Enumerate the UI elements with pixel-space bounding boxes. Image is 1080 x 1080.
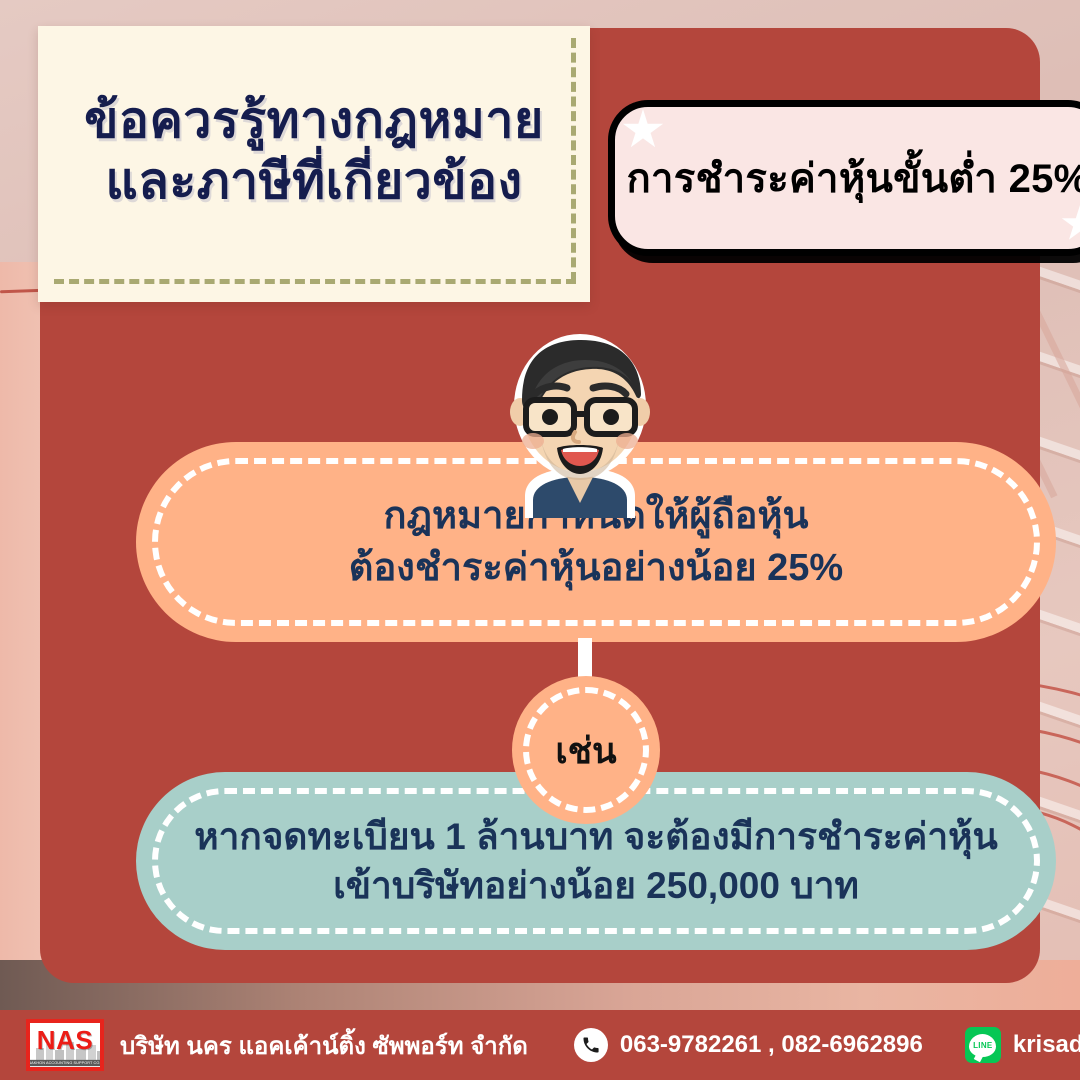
main-panel: ข้อควรรู้ทางกฎหมาย และภาษีที่เกี่ยวข้อง … <box>40 28 1040 983</box>
title-line-1: ข้อควรรู้ทางกฎหมาย <box>84 90 544 151</box>
nas-logo: NAS NAKHON ACCOUNTING SUPPORT CO., LTD <box>26 1019 104 1071</box>
mascot-icon <box>495 328 665 518</box>
phone-numbers: 063-9782261 , 082-6962896 <box>620 1031 923 1059</box>
line-bubble-shape: LINE <box>969 1034 996 1057</box>
phone-contact-group: 063-9782261 , 082-6962896 <box>574 1028 923 1062</box>
example-bubble: เช่น <box>512 676 660 824</box>
star-icon <box>1061 205 1080 243</box>
example-line-2: เข้าบริษัทอย่างน้อย 250,000 บาท <box>194 861 998 910</box>
footer-bar: NAS NAKHON ACCOUNTING SUPPORT CO., LTD บ… <box>0 1010 1080 1080</box>
title-card-dashed-right <box>571 38 576 282</box>
line-app-icon: LINE <box>965 1027 1001 1063</box>
line-contact-group: LINE krisadith, krisadithtk <box>965 1027 1080 1063</box>
line-icon-label: LINE <box>973 1041 992 1050</box>
line-ids: krisadith, krisadithtk <box>1013 1031 1080 1059</box>
page-title: ข้อควรรู้ทางกฎหมาย และภาษีที่เกี่ยวข้อง <box>58 90 570 238</box>
topic-badge: การชำระค่าหุ้นขั้นต่ำ 25% <box>608 100 1080 256</box>
example-bubble-label: เช่น <box>555 722 616 779</box>
nas-logo-subtitle: NAKHON ACCOUNTING SUPPORT CO., LTD <box>28 1060 102 1066</box>
infographic-canvas: ข้อควรรู้ทางกฎหมาย และภาษีที่เกี่ยวข้อง … <box>0 0 1080 1080</box>
title-line-2: และภาษีที่เกี่ยวข้อง <box>84 151 544 212</box>
phone-glyph <box>581 1035 601 1055</box>
title-card: ข้อควรรู้ทางกฎหมาย และภาษีที่เกี่ยวข้อง <box>38 26 590 302</box>
phone-icon <box>574 1028 608 1062</box>
company-name: บริษัท นคร แอคเค้าน์ติ้ง ซัพพอร์ท จำกัด <box>120 1026 528 1065</box>
topic-badge-label: การชำระค่าหุ้นขั้นต่ำ 25% <box>626 146 1080 210</box>
rule-line-2: ต้องชำระค่าหุ้นอย่างน้อย 25% <box>349 542 843 594</box>
example-card-teal-text: หากจดทะเบียน 1 ล้านบาท จะต้องมีการชำระค่… <box>138 812 1054 910</box>
title-card-dashed-bottom <box>54 279 576 284</box>
nas-logo-word: NAS <box>37 1027 93 1053</box>
star-icon <box>622 109 664 151</box>
